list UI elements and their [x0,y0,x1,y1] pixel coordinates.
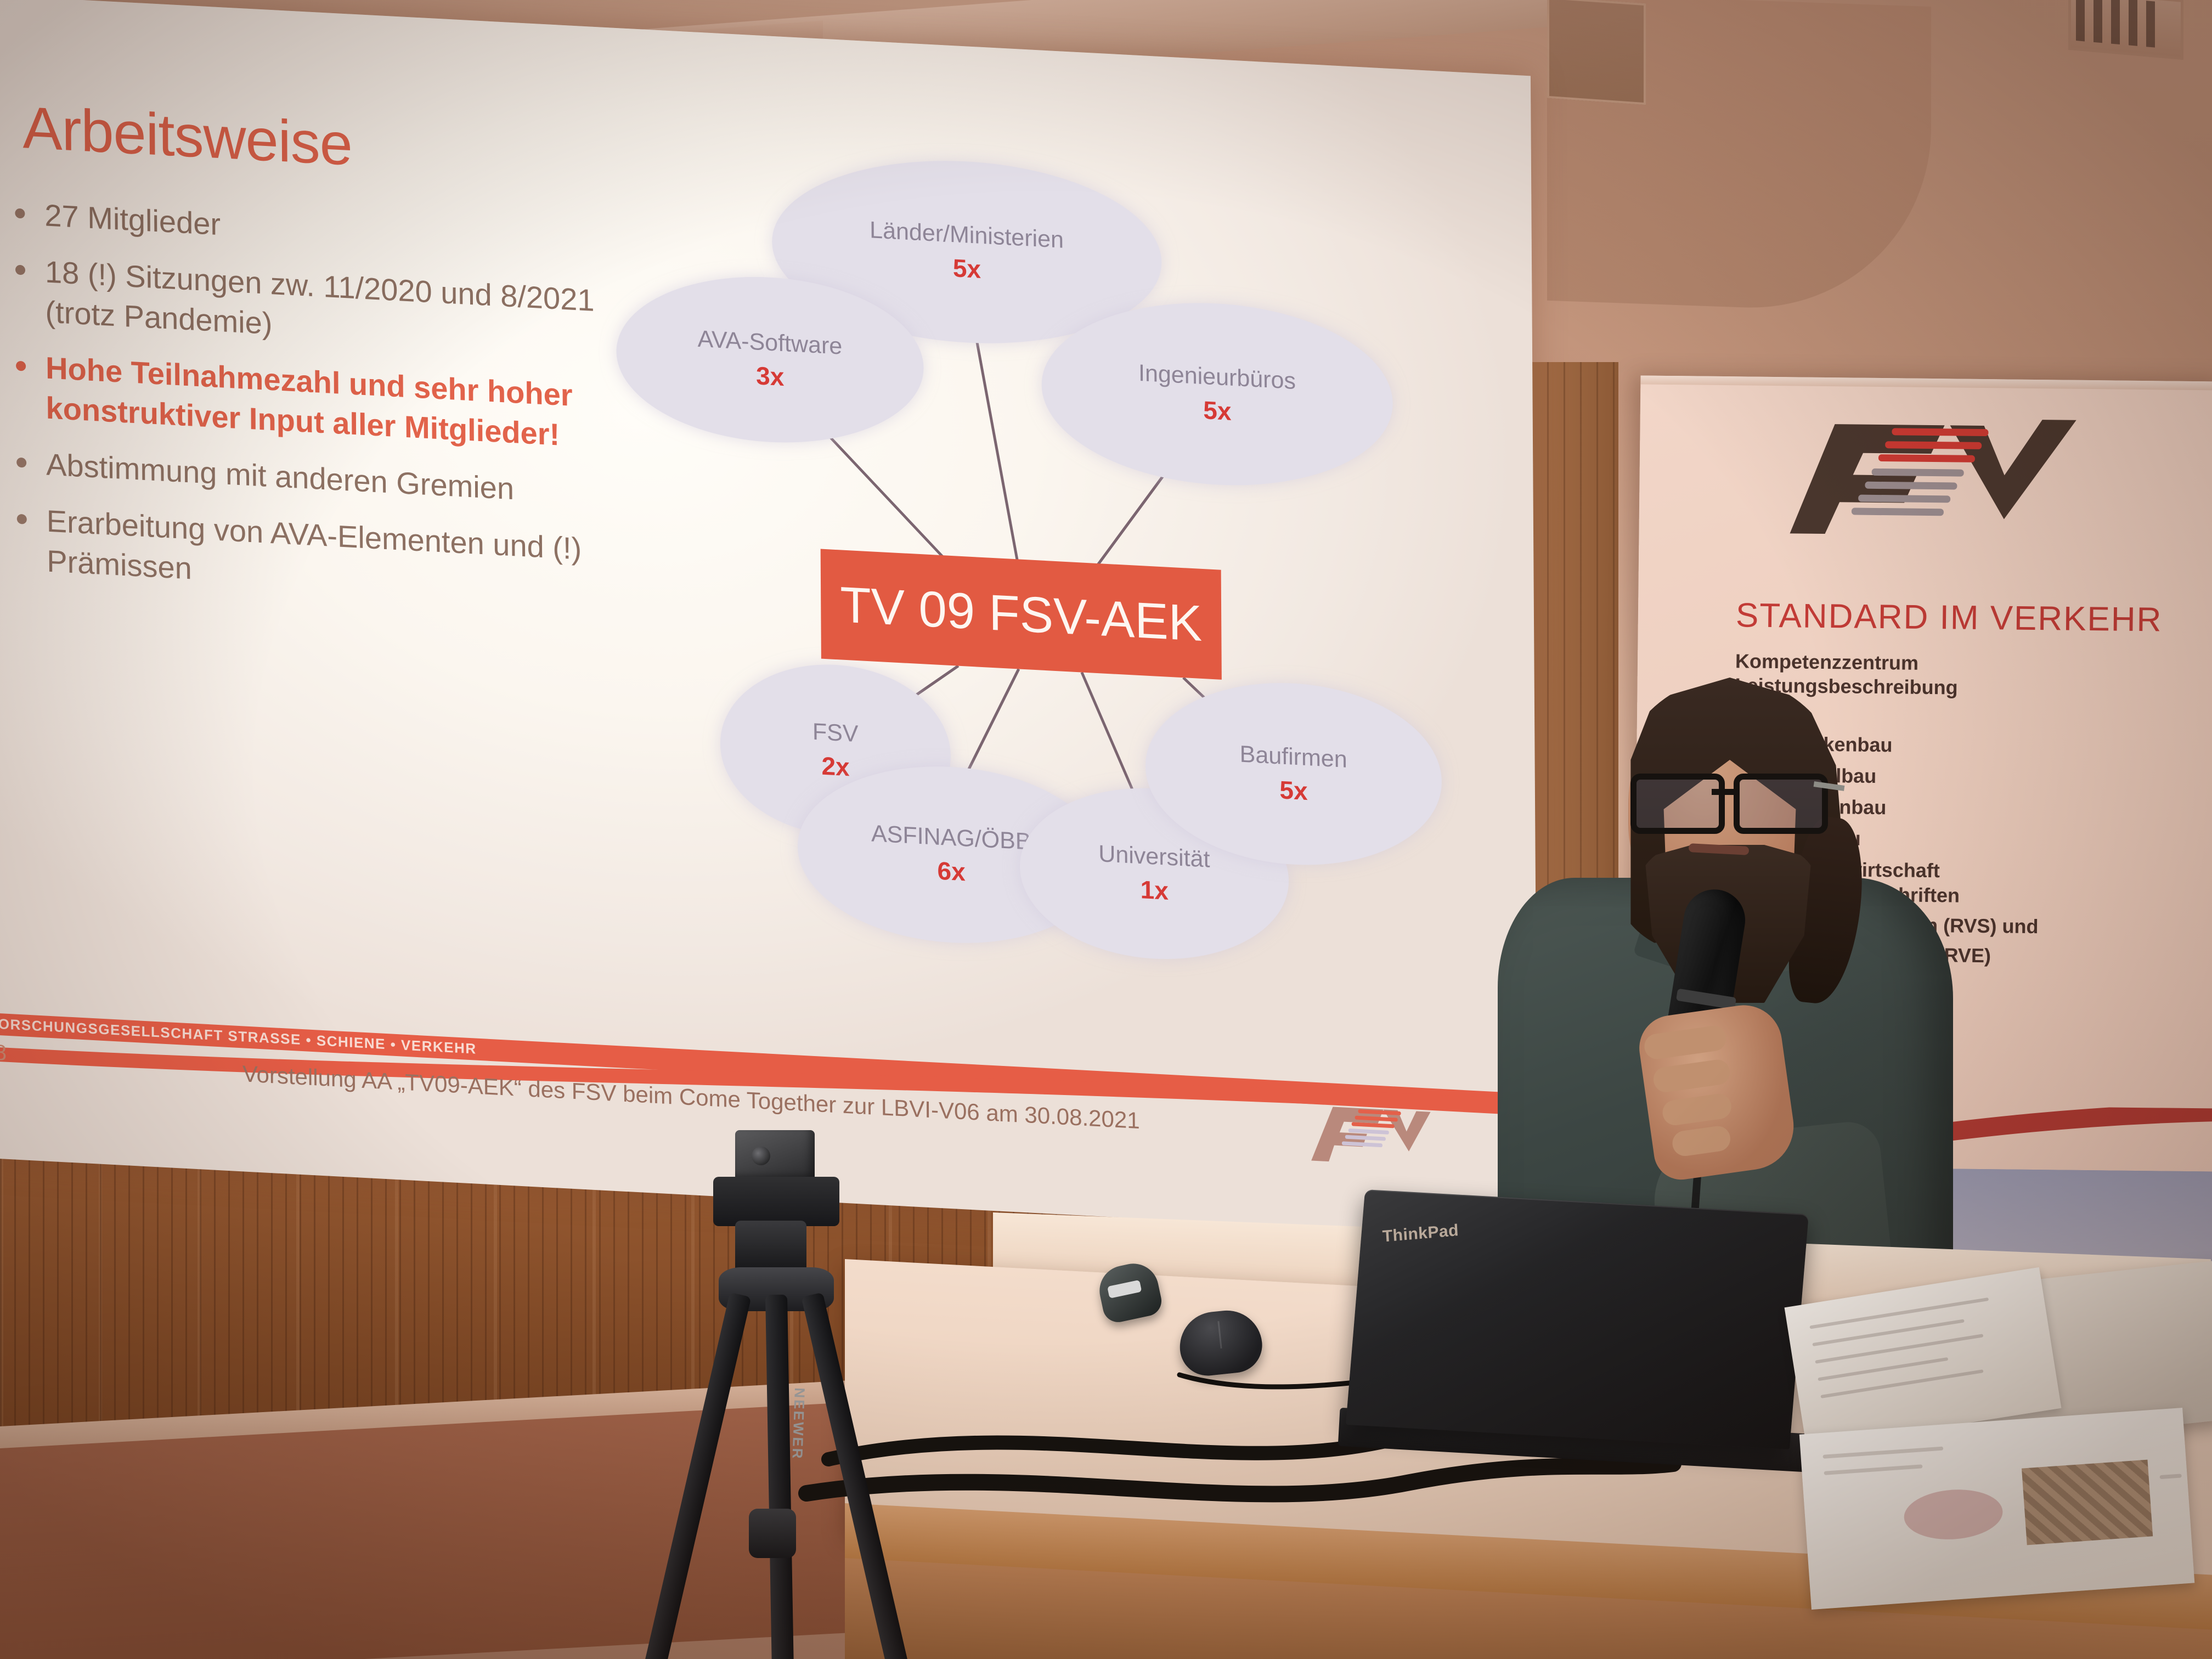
node-label: Baufirmen [1240,742,1347,771]
camera-lens-icon [752,1147,770,1165]
bullet-dot-icon [16,458,26,468]
slide-surface: Arbeitsweise 27 Mitglieder 18 (!) Sitzun… [0,0,1538,1239]
fsv-logo-icon [1768,407,2109,548]
tripod-leg [765,1295,794,1659]
center-node-label: TV 09 FSV-AEK [840,576,1202,653]
bullet-dot-icon [15,264,25,275]
air-vent-icon [2068,0,2183,60]
finger [1643,1024,1728,1060]
bullet-dot-icon [17,514,27,524]
slide-bullet-list: 27 Mitglieder 18 (!) Sitzungen zw. 11/20… [9,194,631,628]
node-count: 6x [937,857,965,884]
camera-icon [735,1130,815,1181]
node-label: Ingenieurbüros [1138,361,1296,393]
mindmap-diagram: Länder/Ministerien 5x Ingenieurbüros 5x … [582,103,1465,1011]
node-count: 5x [1279,777,1307,804]
node-count: 5x [1203,397,1231,424]
node-count: 2x [821,753,849,780]
projection-screen: Arbeitsweise 27 Mitglieder 18 (!) Sitzun… [0,0,1538,1239]
thinkpad-logo: ThinkPad [1382,1221,1459,1246]
node-label: Länder/Ministerien [870,218,1064,252]
tripod-brand-label: NEEWER [788,1387,808,1460]
photo-scene: Arbeitsweise 27 Mitglieder 18 (!) Sitzun… [0,0,2212,1659]
node-label: Universität [1098,842,1210,872]
node-label: FSV [812,720,859,746]
page-title: Arbeitsweise [22,93,352,179]
bullet-text: Hohe Teilnahmezahl und sehr hoher konstr… [46,348,631,459]
tripod-head-lower [735,1221,806,1273]
slide-page-number: 8 [0,1041,7,1066]
fsv-logo-icon [1301,1095,1438,1173]
bullet-text: Abstimmung mit anderen Gremien [46,444,514,509]
glasses-bridge [1712,789,1736,795]
brochure-graphic [1903,1486,2005,1542]
brochure [1799,1408,2195,1610]
eyeglasses-icon [1629,774,1827,826]
list-item-highlighted: Hohe Teilnahmezahl und sehr hoher konstr… [10,346,631,459]
bullet-dot-icon [15,208,25,219]
tripod-head [713,1177,839,1226]
lens-left [1630,774,1725,834]
tripod-leg [644,1293,751,1659]
banner-subtitle-line1: Kompetenzzentrum [1735,649,1959,675]
bullet-text: 27 Mitglieder [44,195,221,245]
ceiling-speaker [1547,0,1646,105]
finger [1652,1058,1731,1094]
clicker-buttons[interactable] [1107,1280,1142,1299]
camera-tripod: NEEWER [647,1130,955,1657]
node-count: 3x [756,363,784,390]
node-count: 5x [953,255,981,282]
bullet-text: Erarbeitung von AVA-Elementen und (!) Pr… [47,501,632,612]
banner-headline: STANDARD IM VERKEHR [1736,596,2163,639]
list-item: 18 (!) Sitzungen zw. 11/2020 und 8/2021 … [10,250,630,363]
finger [1671,1125,1732,1158]
tripod-leg [802,1293,909,1659]
bullet-dot-icon [16,361,26,371]
node-count: 1x [1141,877,1169,904]
brochure-photo [2022,1460,2153,1545]
bullet-text: 18 (!) Sitzungen zw. 11/2020 und 8/2021 … [45,252,630,363]
list-item: Erarbeitung von AVA-Elementen und (!) Pr… [12,499,632,612]
presenter-hand [1635,1000,1799,1183]
node-label: AVA-Software [697,327,842,358]
laptop[interactable]: ThinkPad [1346,1189,1809,1449]
node-label: ASFINAG/ÖBB [871,822,1031,854]
tripod-lock[interactable] [749,1509,796,1558]
finger [1661,1092,1733,1127]
mindmap-center-node: TV 09 FSV-AEK [821,549,1222,680]
